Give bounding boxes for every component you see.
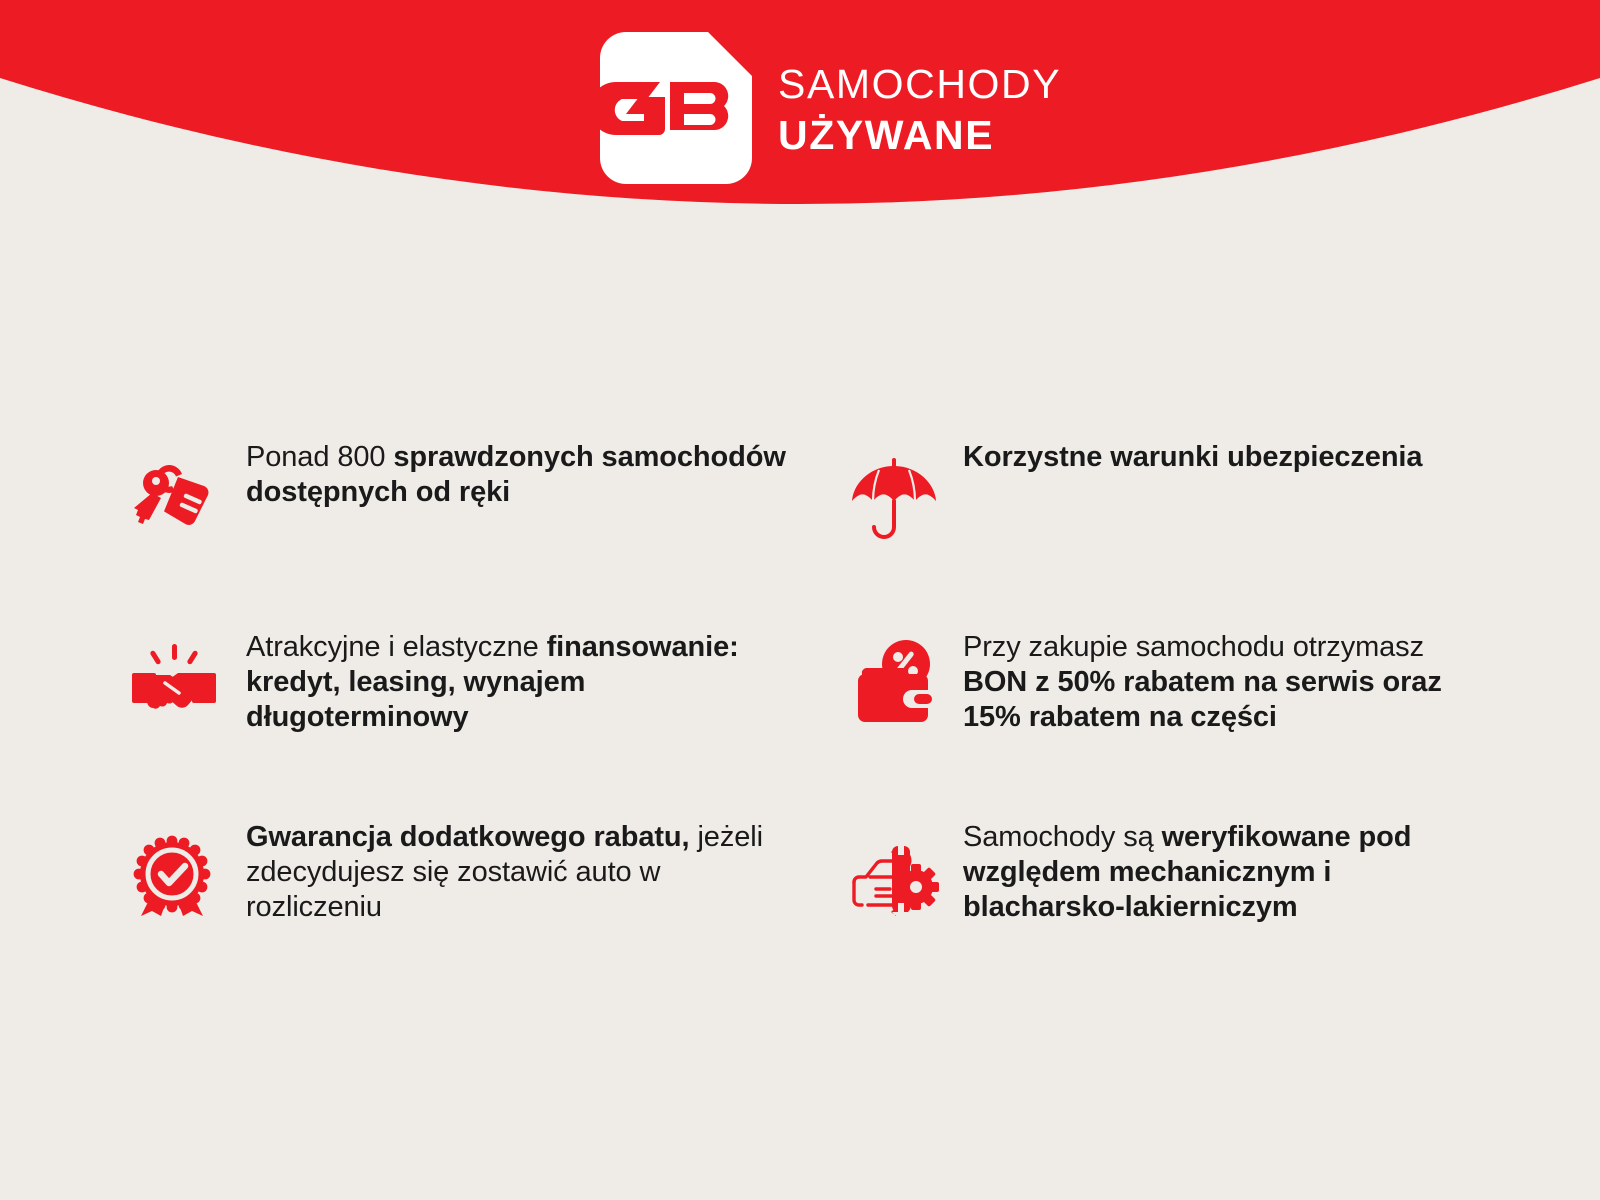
brand-lockup: SAMOCHODY UŻYWANE [600, 32, 1061, 184]
benefit-text: Atrakcyjne i elastyczne finansowanie: kr… [246, 630, 786, 735]
handshake-icon [128, 630, 246, 730]
benefit-text-regular: Ponad 800 [246, 441, 393, 473]
brand-line-samochody: SAMOCHODY [778, 64, 1061, 105]
benefit-text-regular: Przy zakupie samochodu otrzymasz [963, 631, 1424, 663]
page-header: SAMOCHODY UŻYWANE [0, 0, 1600, 260]
benefit-text: Korzystne warunki ubezpieczenia [963, 440, 1422, 475]
benefit-text-bold: Korzystne warunki ubezpieczenia [963, 441, 1422, 473]
benefit-item-vehicle-inspection: Samochody są weryfikowane pod względem m… [848, 820, 1568, 1010]
benefit-text-bold: BON z 50% rabatem na serwis oraz 15% rab… [963, 666, 1442, 733]
benefit-text: Przy zakupie samochodu otrzymasz BON z 5… [963, 630, 1483, 735]
benefit-text: Samochody są weryfikowane pod względem m… [963, 820, 1483, 925]
benefit-item-insurance: Korzystne warunki ubezpieczenia [848, 440, 1568, 630]
benefit-text-regular: Atrakcyjne i elastyczne [246, 631, 547, 663]
gb-logo-icon[interactable] [600, 32, 752, 184]
benefit-text: Gwarancja dodatkowego rabatu, jeżeli zde… [246, 820, 786, 925]
car-key-icon [128, 440, 246, 544]
car-service-wrench-icon [848, 820, 963, 924]
benefit-text-regular: Samochody są [963, 821, 1162, 853]
benefit-text-bold: Gwarancja dodatkowego rabatu, [246, 821, 689, 853]
umbrella-icon [848, 440, 963, 544]
benefit-item-cars-available: Ponad 800 sprawdzonych samochodów dostęp… [128, 440, 848, 630]
brand-line-uzywane: UŻYWANE [778, 115, 1061, 156]
award-badge-icon [128, 820, 246, 927]
benefit-item-trade-in-discount: Gwarancja dodatkowego rabatu, jeżeli zde… [128, 820, 848, 1010]
benefit-text: Ponad 800 sprawdzonych samochodów dostęp… [246, 440, 786, 510]
brand-wordmark: SAMOCHODY UŻYWANE [778, 60, 1061, 156]
gb-logo-shape [600, 32, 752, 184]
benefits-grid: Ponad 800 sprawdzonych samochodów dostęp… [0, 440, 1600, 1010]
wallet-percent-icon [848, 630, 963, 730]
benefit-item-financing: Atrakcyjne i elastyczne finansowanie: kr… [128, 630, 848, 820]
benefit-item-voucher-discount: Przy zakupie samochodu otrzymasz BON z 5… [848, 630, 1568, 820]
benefits-column-right: Korzystne warunki ubezpieczenia [848, 440, 1568, 1010]
benefits-column-left: Ponad 800 sprawdzonych samochodów dostęp… [128, 440, 848, 1010]
